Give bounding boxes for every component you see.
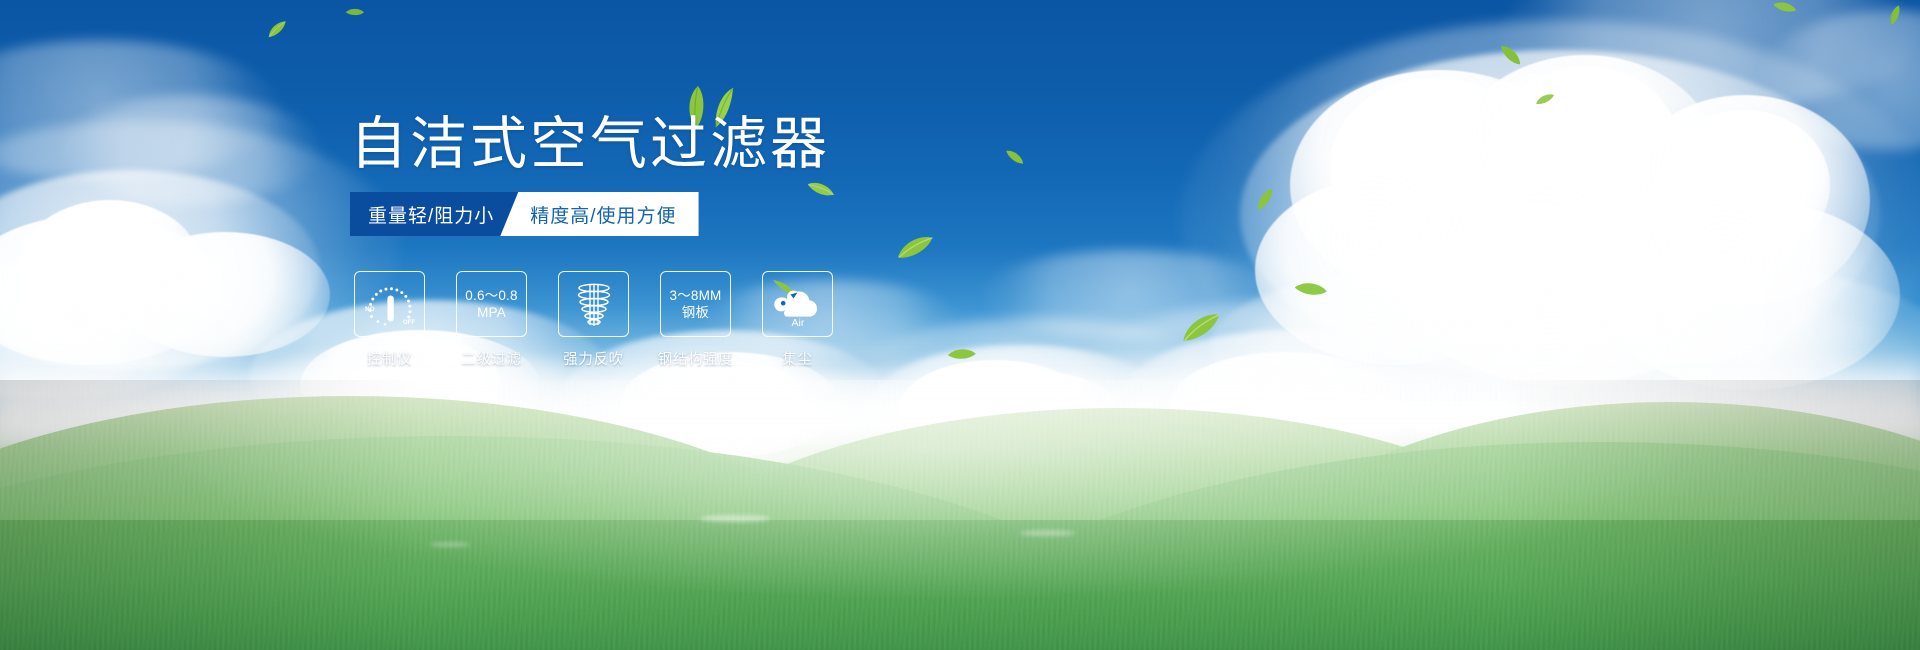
feature-icon-box: 0.6～0.8 MPA <box>456 271 527 337</box>
hero-banner: 自洁式空气过滤器 重量轻/阻力小 精度高/使用方便 <box>0 0 1920 650</box>
air-cloud-icon: Air <box>769 276 827 330</box>
feature-icon-box: Air <box>762 271 833 337</box>
subtitle-bar: 重量轻/阻力小 精度高/使用方便 <box>350 192 699 236</box>
feature-item[interactable]: Air 集尘 <box>760 271 835 369</box>
feature-icon-box: NO OFF <box>354 271 425 337</box>
subtitle-right: 精度高/使用方便 <box>500 192 698 236</box>
feature-label: 控制仪 <box>367 348 412 369</box>
feature-box-text: 0.6～0.8 MPA <box>465 287 517 322</box>
gauge-icon: NO OFF <box>362 280 418 328</box>
feature-item[interactable]: 3～8MM 钢板 钢结构强度 <box>658 271 733 369</box>
page-title: 自洁式空气过滤器 <box>350 113 830 177</box>
feature-item[interactable]: 强力反吹 <box>556 271 631 369</box>
feature-item[interactable]: 0.6～0.8 MPA 二级过滤 <box>454 271 529 369</box>
feature-icon-box: 3～8MM 钢板 <box>660 271 731 337</box>
feature-label: 二级过滤 <box>461 348 521 369</box>
subtitle-left: 重量轻/阻力小 <box>350 192 518 236</box>
feature-list: NO OFF 控制仪 0.6～0.8 MPA 二级过滤 <box>352 271 835 369</box>
feature-icon-box <box>558 271 629 337</box>
blowback-icon <box>569 279 619 329</box>
gauge-mark-off: OFF <box>403 320 415 326</box>
feature-label: 强力反吹 <box>563 348 623 369</box>
feature-box-text: 3～8MM 钢板 <box>669 287 721 322</box>
feature-label: 集尘 <box>782 348 812 369</box>
gauge-mark-no: NO <box>365 306 375 313</box>
air-label: Air <box>791 317 804 329</box>
feature-item[interactable]: NO OFF 控制仪 <box>352 271 427 369</box>
feature-label: 钢结构强度 <box>658 348 734 369</box>
